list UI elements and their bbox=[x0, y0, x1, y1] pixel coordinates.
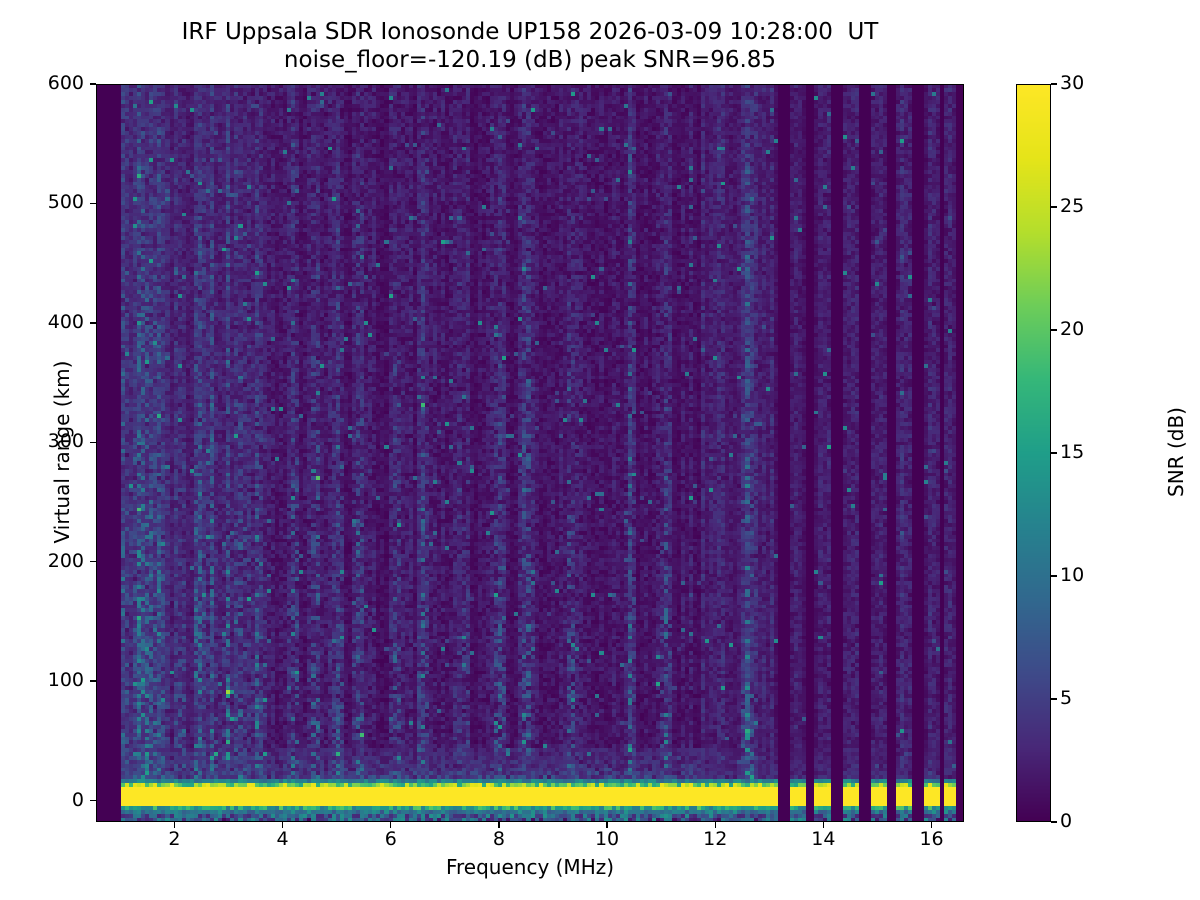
x-tick-label: 6 bbox=[351, 828, 431, 850]
colorbar-tick-mark bbox=[1051, 698, 1057, 699]
plot-area bbox=[96, 84, 964, 822]
y-tick-mark bbox=[90, 561, 96, 562]
colorbar-tick-mark bbox=[1051, 329, 1057, 330]
y-tick-mark bbox=[90, 680, 96, 681]
colorbar-tick-label: 0 bbox=[1060, 810, 1072, 832]
colorbar-tick-mark bbox=[1051, 452, 1057, 453]
x-tick-label: 10 bbox=[567, 828, 647, 850]
colorbar-tick-mark bbox=[1051, 206, 1057, 207]
y-tick-mark bbox=[90, 800, 96, 801]
colorbar bbox=[1016, 84, 1051, 822]
x-tick-label: 12 bbox=[675, 828, 755, 850]
x-axis-label: Frequency (MHz) bbox=[96, 855, 964, 879]
x-tick-label: 16 bbox=[892, 828, 972, 850]
x-tick-label: 2 bbox=[134, 828, 214, 850]
colorbar-tick-mark bbox=[1051, 821, 1057, 822]
colorbar-tick-label: 15 bbox=[1060, 441, 1084, 463]
y-tick-mark bbox=[90, 322, 96, 323]
colorbar-tick-label: 20 bbox=[1060, 318, 1084, 340]
colorbar-label: SNR (dB) bbox=[1164, 82, 1188, 822]
x-tick-label: 14 bbox=[783, 828, 863, 850]
colorbar-tick-label: 10 bbox=[1060, 564, 1084, 586]
title-line-1: IRF Uppsala SDR Ionosonde UP158 2026-03-… bbox=[0, 18, 1060, 46]
figure-title: IRF Uppsala SDR Ionosonde UP158 2026-03-… bbox=[0, 18, 1060, 74]
y-tick-mark bbox=[90, 203, 96, 204]
ionogram-figure: IRF Uppsala SDR Ionosonde UP158 2026-03-… bbox=[0, 0, 1200, 900]
colorbar-tick-label: 5 bbox=[1060, 687, 1072, 709]
colorbar-tick-mark bbox=[1051, 83, 1057, 84]
colorbar-tick-label: 25 bbox=[1060, 195, 1084, 217]
colorbar-tick-mark bbox=[1051, 575, 1057, 576]
y-axis-label: Virtual range (km) bbox=[50, 82, 74, 822]
x-tick-label: 4 bbox=[243, 828, 323, 850]
ionogram-heatmap bbox=[97, 85, 964, 822]
colorbar-tick-label: 30 bbox=[1060, 72, 1084, 94]
title-line-2: noise_floor=-120.19 (dB) peak SNR=96.85 bbox=[0, 46, 1060, 74]
y-tick-mark bbox=[90, 442, 96, 443]
y-tick-mark bbox=[90, 83, 96, 84]
colorbar-gradient bbox=[1017, 85, 1050, 821]
x-tick-label: 8 bbox=[459, 828, 539, 850]
